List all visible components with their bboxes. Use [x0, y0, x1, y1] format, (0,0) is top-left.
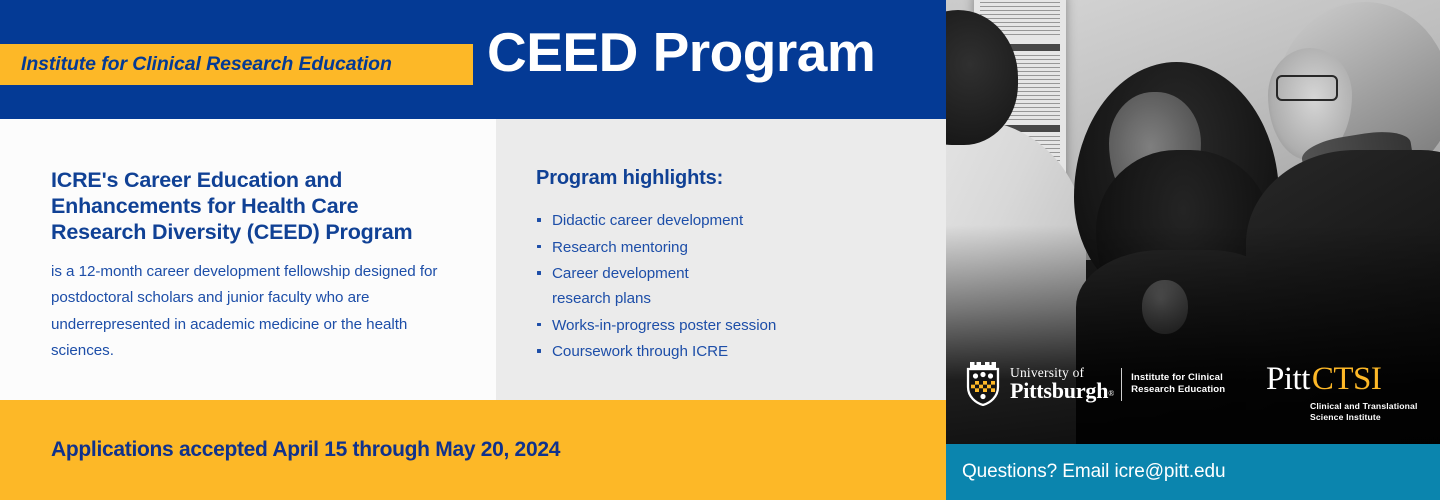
pitt-ctsi-logo: PittCTSI Clinical and Translational Scie…	[1266, 363, 1418, 424]
list-item-text: Coursework through ICRE	[552, 343, 728, 360]
ceed-program-banner: Institute for Clinical Research Educatio…	[0, 0, 1440, 500]
list-item: Didactic career development	[536, 209, 926, 234]
bullet-icon	[537, 218, 541, 222]
contact-bar: Questions? Email icre@pitt.edu	[946, 444, 1440, 500]
highlights-block: Program highlights: Didactic career deve…	[536, 167, 926, 367]
pitt-wordmark-line1: University of	[1010, 366, 1114, 380]
icre-ribbon-label: Institute for Clinical Research Educatio…	[21, 53, 392, 76]
header-bar: Institute for Clinical Research Educatio…	[0, 0, 946, 119]
pitt-logo-lockup: University of Pittsburgh® Institute for …	[966, 362, 1225, 406]
list-item: Career development research plans	[536, 262, 926, 311]
list-item-text: Works-in-progress poster session	[552, 317, 776, 334]
ctsi-subtitle-line1: Clinical and Translational	[1310, 401, 1418, 412]
bullet-icon	[537, 349, 541, 353]
logo-divider	[1121, 368, 1122, 401]
right-photo-column: University of Pittsburgh® Institute for …	[946, 0, 1440, 500]
pitt-wordmark-line2: Pittsburgh®	[1010, 380, 1114, 402]
list-item: Coursework through ICRE	[536, 340, 926, 365]
ctsi-subtitle: Clinical and Translational Science Insti…	[1310, 401, 1418, 424]
registered-mark-icon: ®	[1108, 389, 1114, 398]
intro-panel: ICRE's Career Education and Enhancements…	[0, 119, 496, 400]
contact-text: Questions? Email icre@pitt.edu	[962, 461, 1225, 483]
pitt-wordmark: University of Pittsburgh®	[1010, 366, 1114, 403]
list-item-text-line2: research plans	[552, 287, 926, 312]
deadline-bar: Applications accepted April 15 through M…	[0, 400, 946, 500]
intro-block: ICRE's Career Education and Enhancements…	[51, 167, 451, 364]
logo-row: University of Pittsburgh® Institute for …	[946, 362, 1440, 430]
icre-ribbon: Institute for Clinical Research Educatio…	[0, 44, 473, 85]
list-item-text: Research mentoring	[552, 239, 688, 256]
list-item-text: Career development	[552, 265, 689, 282]
page-title: CEED Program	[487, 24, 875, 82]
intro-paragraph: is a 12-month career development fellows…	[51, 259, 451, 364]
list-item-text: Didactic career development	[552, 212, 743, 229]
list-item: Research mentoring	[536, 236, 926, 261]
highlights-list: Didactic career development Research men…	[536, 209, 926, 365]
pitt-shield-icon	[966, 362, 1000, 406]
icre-sublogo-line2: Research Education	[1131, 384, 1225, 396]
ctsi-pitt-text: Pitt	[1266, 361, 1310, 397]
left-content-column: Institute for Clinical Research Educatio…	[0, 0, 946, 500]
bullet-icon	[537, 245, 541, 249]
icre-sublogo-line1: Institute for Clinical	[1131, 372, 1225, 384]
list-item: Works-in-progress poster session	[536, 314, 926, 339]
intro-heading: ICRE's Career Education and Enhancements…	[51, 167, 451, 245]
ctsi-text: CTSI	[1312, 361, 1382, 397]
ctsi-wordmark: PittCTSI	[1266, 363, 1418, 396]
icre-sublogo: Institute for Clinical Research Educatio…	[1131, 372, 1225, 397]
highlights-heading: Program highlights:	[536, 167, 926, 190]
ctsi-subtitle-line2: Science Institute	[1310, 412, 1418, 423]
bullet-icon	[537, 323, 541, 327]
highlights-panel: Program highlights: Didactic career deve…	[496, 119, 946, 400]
bullet-icon	[537, 271, 541, 275]
deadline-text: Applications accepted April 15 through M…	[51, 438, 560, 462]
